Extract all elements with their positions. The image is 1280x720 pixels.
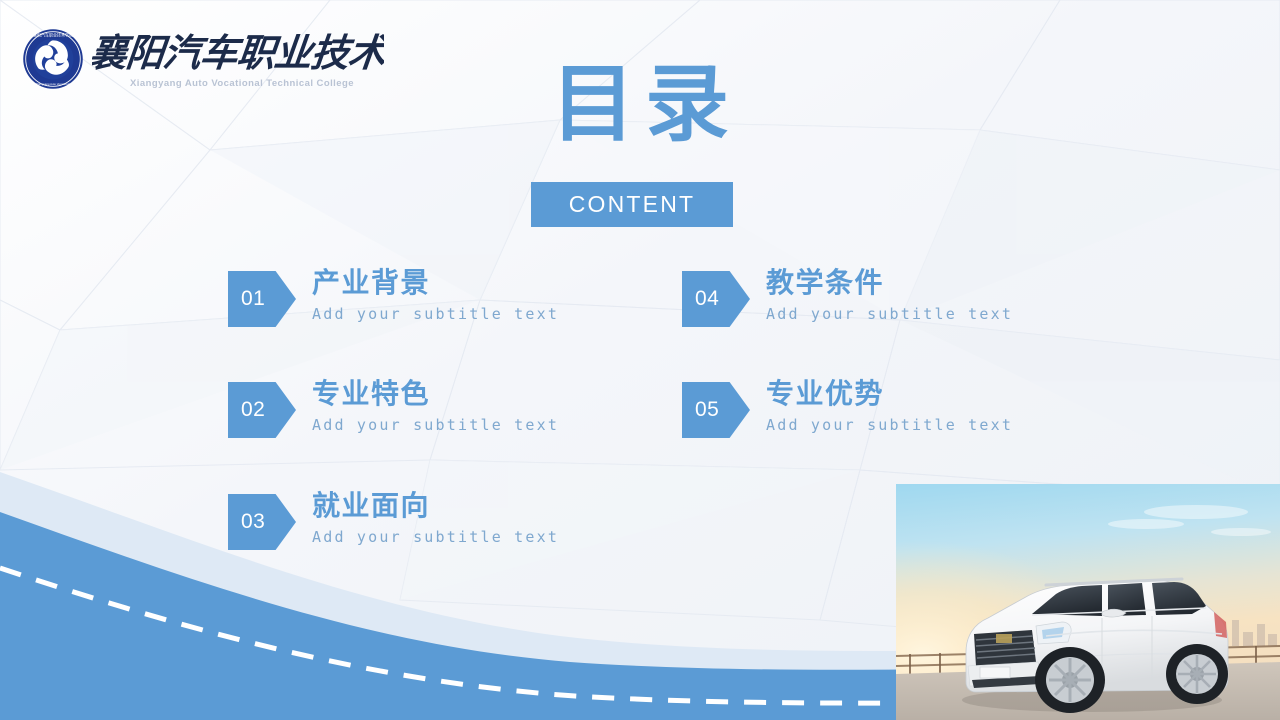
toc-number-01: 01 [228, 287, 265, 311]
toc-subtitle-01: Add your subtitle text [312, 303, 559, 325]
toc-subtitle-04: Add your subtitle text [766, 303, 1013, 325]
toc-number-02: 02 [228, 398, 265, 422]
toc-arrow-icon-05: 05 [682, 382, 750, 438]
toc-title-02: 专业特色 [312, 376, 559, 412]
toc-number-05: 05 [682, 398, 719, 422]
toc-item-01[interactable]: 01 产业背景 Add your subtitle text [228, 265, 648, 343]
toc-subtitle-05: Add your subtitle text [766, 414, 1013, 436]
toc-item-04[interactable]: 04 教学条件 Add your subtitle text [682, 265, 1102, 343]
toc-arrow-icon-04: 04 [682, 271, 750, 327]
toc-arrow-icon-02: 02 [228, 382, 296, 438]
toc-title-05: 专业优势 [766, 376, 1013, 412]
toc-item-05[interactable]: 05 专业优势 Add your subtitle text [682, 376, 1102, 454]
toc-arrow-icon-01: 01 [228, 271, 296, 327]
toc-title-04: 教学条件 [766, 265, 1013, 301]
toc-text-05: 专业优势 Add your subtitle text [766, 376, 1013, 436]
slide-canvas: 襄阳汽车职业技术学院 Xiangyang Auto Vocational 襄阳汽… [0, 0, 1280, 720]
toc-text-01: 产业背景 Add your subtitle text [312, 265, 559, 325]
toc-number-04: 04 [682, 287, 719, 311]
white-suv-on-road-photo [896, 484, 1280, 720]
toc-text-04: 教学条件 Add your subtitle text [766, 265, 1013, 325]
toc-title-01: 产业背景 [312, 265, 559, 301]
toc-item-02[interactable]: 02 专业特色 Add your subtitle text [228, 376, 648, 454]
toc-subtitle-02: Add your subtitle text [312, 414, 559, 436]
toc-text-02: 专业特色 Add your subtitle text [312, 376, 559, 436]
